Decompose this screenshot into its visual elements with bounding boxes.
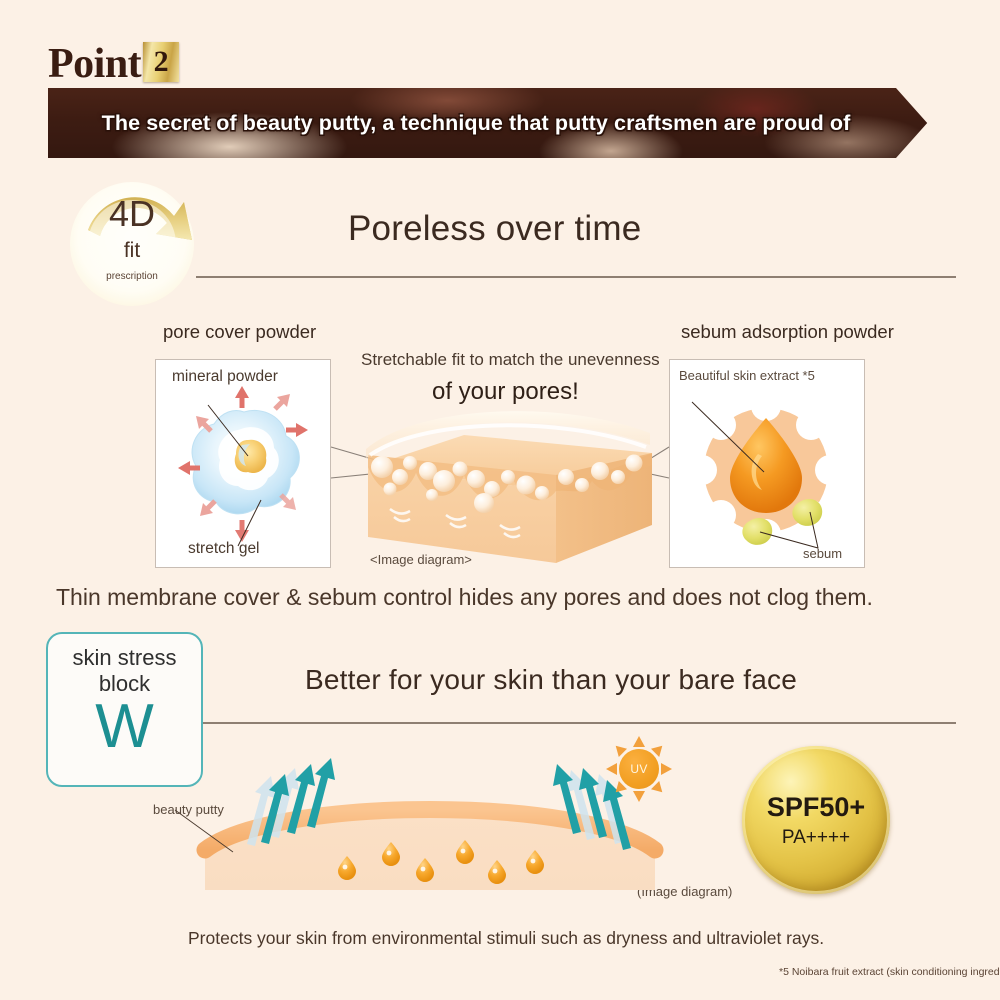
point-header: Point 2 xyxy=(48,42,179,84)
infographic-page: Point 2 The secret of beauty putty, a te… xyxy=(0,0,1000,1000)
badge-skin-stress-block: skin stress block W xyxy=(46,632,203,787)
uv-label: UV xyxy=(619,749,659,789)
uv-sun-icon: UV xyxy=(606,736,672,802)
badge-4d-line3: prescription xyxy=(52,272,212,282)
badge-w-line1: skin stress xyxy=(48,645,201,671)
spf-value: SPF50+ xyxy=(767,794,865,821)
banner: The secret of beauty putty, a technique … xyxy=(48,88,956,158)
pore-cross-section-illustration xyxy=(360,405,665,575)
spf-badge: SPF50+ PA++++ xyxy=(742,746,890,894)
skin-protection-illustration xyxy=(195,770,665,900)
badge-w-letter: W xyxy=(48,696,201,758)
banner-title: The secret of beauty putty, a technique … xyxy=(48,88,904,158)
point-word: Point xyxy=(48,44,141,84)
badge-4d-fit: 4D fit prescription xyxy=(52,178,212,310)
badge-4d-line2: fit xyxy=(52,240,212,261)
badge-4d-line1: 4D xyxy=(52,196,212,232)
pa-value: PA++++ xyxy=(782,828,850,847)
point-number-badge: 2 xyxy=(143,42,179,82)
